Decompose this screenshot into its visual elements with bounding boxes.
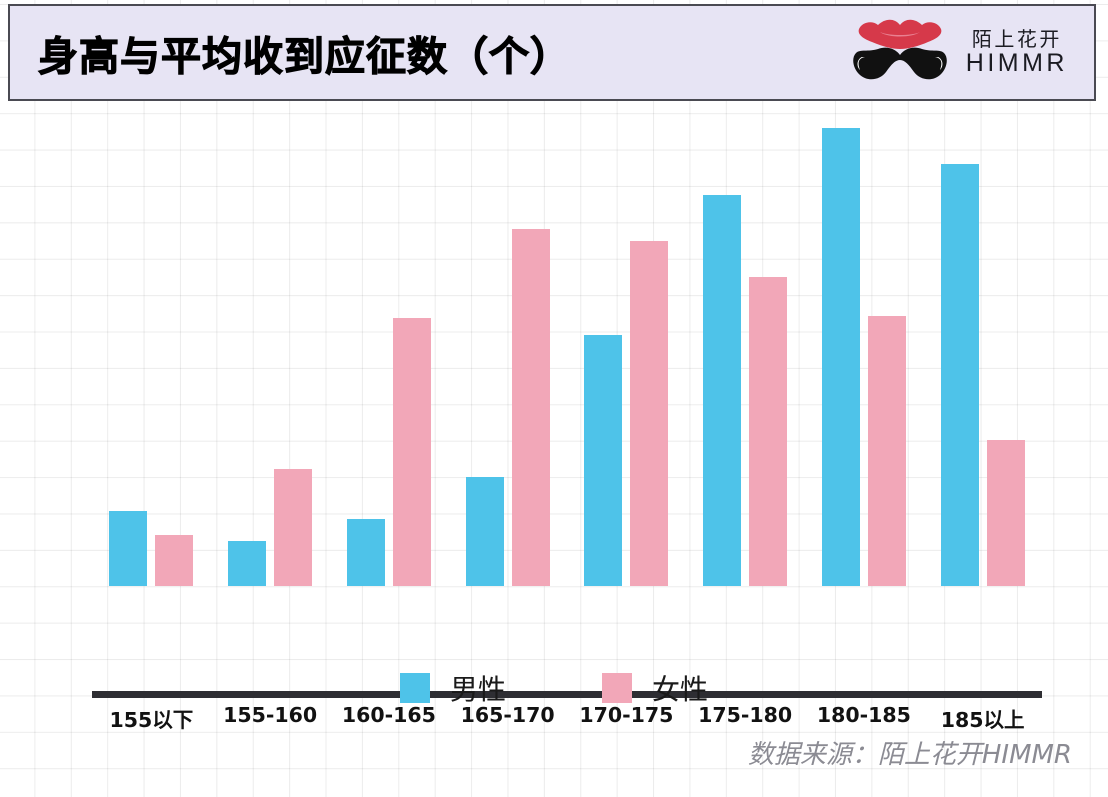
legend-item: 男性 bbox=[400, 668, 506, 708]
bar-male bbox=[228, 541, 266, 586]
bar-group bbox=[211, 110, 330, 586]
bar-male bbox=[347, 519, 385, 586]
bar-female bbox=[868, 316, 906, 586]
bar-male bbox=[941, 164, 979, 586]
bar-male bbox=[109, 511, 147, 586]
bar-group bbox=[686, 110, 805, 586]
bar-female bbox=[987, 440, 1025, 586]
himmr-logo: 陌上花开 HIMMR bbox=[848, 17, 1068, 89]
bar-group bbox=[330, 110, 449, 586]
bar-male bbox=[584, 335, 622, 586]
bar-male bbox=[703, 195, 741, 587]
header-bar: 身高与平均收到应征数（个） 陌上花开 HIMMR bbox=[8, 4, 1096, 101]
legend-swatch-icon bbox=[400, 673, 430, 703]
x-axis-labels: 155以下155-160160-165165-170170-175175-180… bbox=[92, 703, 1042, 737]
logo-mark bbox=[848, 17, 952, 89]
bar-group bbox=[805, 110, 924, 586]
bar-group bbox=[923, 110, 1042, 586]
bar-male bbox=[822, 128, 860, 586]
plot-area bbox=[92, 110, 1042, 586]
bar-female bbox=[393, 318, 431, 586]
legend-item: 女性 bbox=[602, 668, 708, 708]
legend-label: 男性 bbox=[450, 668, 506, 708]
bar-female bbox=[512, 229, 550, 586]
bar-group bbox=[567, 110, 686, 586]
bar-group bbox=[92, 110, 211, 586]
legend-label: 女性 bbox=[652, 668, 708, 708]
lips-icon bbox=[858, 19, 941, 48]
bar-chart: 155以下155-160160-165165-170170-175175-180… bbox=[0, 110, 1108, 650]
bar-female bbox=[749, 277, 787, 586]
bar-female bbox=[274, 469, 312, 586]
bar-group bbox=[448, 110, 567, 586]
legend-swatch-icon bbox=[602, 673, 632, 703]
brand-name-en: HIMMR bbox=[966, 50, 1068, 77]
bar-male bbox=[466, 477, 504, 586]
mustache-icon bbox=[853, 47, 947, 79]
source-note: 数据来源：陌上花开HIMMR bbox=[748, 734, 1072, 771]
bar-female bbox=[630, 241, 668, 586]
page-title: 身高与平均收到应征数（个） bbox=[38, 24, 571, 82]
chart-legend: 男性女性 bbox=[0, 668, 1108, 708]
brand-text: 陌上花开 HIMMR bbox=[966, 29, 1068, 77]
page-background: 身高与平均收到应征数（个） 陌上花开 HIMMR bbox=[0, 0, 1108, 797]
bar-female bbox=[155, 535, 193, 586]
brand-name-cn: 陌上花开 bbox=[972, 29, 1062, 50]
